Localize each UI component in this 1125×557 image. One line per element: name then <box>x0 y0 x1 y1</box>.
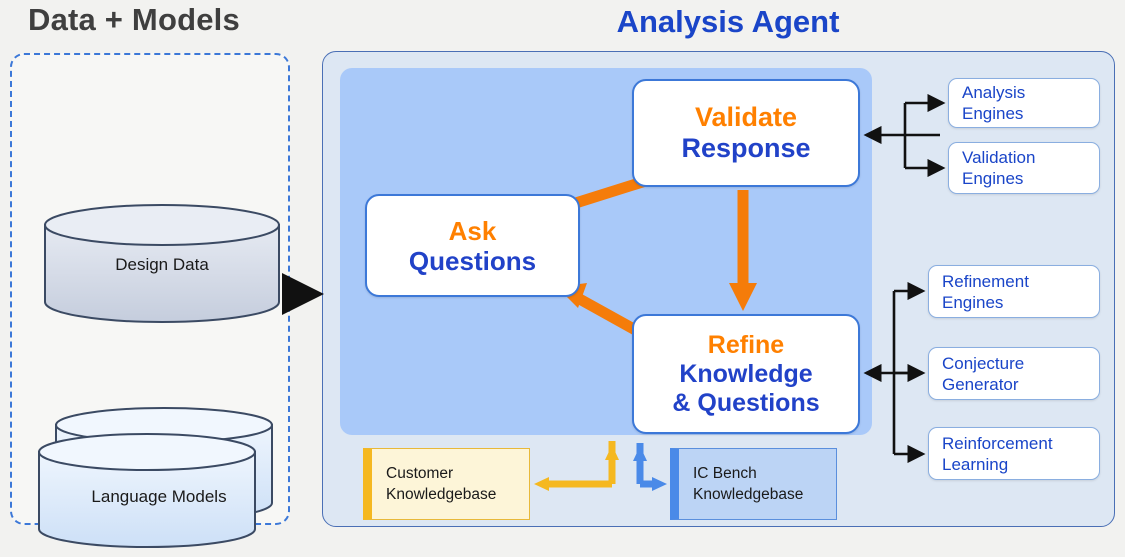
customer-kb-line1: Customer <box>386 463 529 484</box>
refine-line1: Refine <box>708 331 784 360</box>
design-data-label: Design Data <box>43 255 281 275</box>
analysis-engines-line2: Engines <box>962 103 1099 124</box>
reinforcement-learning-line2: Learning <box>942 454 1099 475</box>
reinforcement-learning-box[interactable]: Reinforcement Learning <box>928 427 1100 480</box>
customer-knowledgebase-box[interactable]: Customer Knowledgebase <box>363 448 530 520</box>
ic-bench-kb-line1: IC Bench <box>693 463 836 484</box>
validation-engines-box[interactable]: Validation Engines <box>948 142 1100 194</box>
analysis-engines-box[interactable]: Analysis Engines <box>948 78 1100 128</box>
data-models-title: Data + Models <box>28 2 288 38</box>
ic-bench-kb-line2: Knowledgebase <box>693 484 836 505</box>
refine-line3: & Questions <box>672 389 819 418</box>
design-data-store: Design Data <box>43 203 281 324</box>
conjecture-generator-box[interactable]: Conjecture Generator <box>928 347 1100 400</box>
refine-line2: Knowledge <box>679 360 812 389</box>
refinement-engines-box[interactable]: Refinement Engines <box>928 265 1100 318</box>
validate-line2: Response <box>681 133 810 164</box>
stacked-cylinder-icon <box>34 407 284 557</box>
diagram-canvas: Data + Models Design Data <box>0 0 1125 537</box>
data-models-panel: Design Data Language Models <box>10 53 290 525</box>
validate-line1: Validate <box>695 102 797 133</box>
validation-engines-line2: Engines <box>962 168 1099 189</box>
ask-line2: Questions <box>409 246 536 276</box>
conjecture-generator-line1: Conjecture <box>942 353 1099 374</box>
validation-engines-line1: Validation <box>962 147 1099 168</box>
analysis-engines-line1: Analysis <box>962 82 1099 103</box>
conjecture-generator-line2: Generator <box>942 374 1099 395</box>
language-models-label: Language Models <box>34 487 284 507</box>
reinforcement-learning-line1: Reinforcement <box>942 433 1099 454</box>
customer-kb-line2: Knowledgebase <box>386 484 529 505</box>
ic-bench-knowledgebase-box[interactable]: IC Bench Knowledgebase <box>670 448 837 520</box>
validate-response-box[interactable]: Validate Response <box>632 79 860 187</box>
language-models-store: Language Models <box>34 407 284 557</box>
analysis-agent-title: Analysis Agent <box>583 4 873 40</box>
refine-knowledge-box[interactable]: Refine Knowledge & Questions <box>632 314 860 434</box>
ask-line1: Ask <box>449 216 497 246</box>
refinement-engines-line1: Refinement <box>942 271 1099 292</box>
ask-questions-box[interactable]: Ask Questions <box>365 194 580 297</box>
refinement-engines-line2: Engines <box>942 292 1099 313</box>
